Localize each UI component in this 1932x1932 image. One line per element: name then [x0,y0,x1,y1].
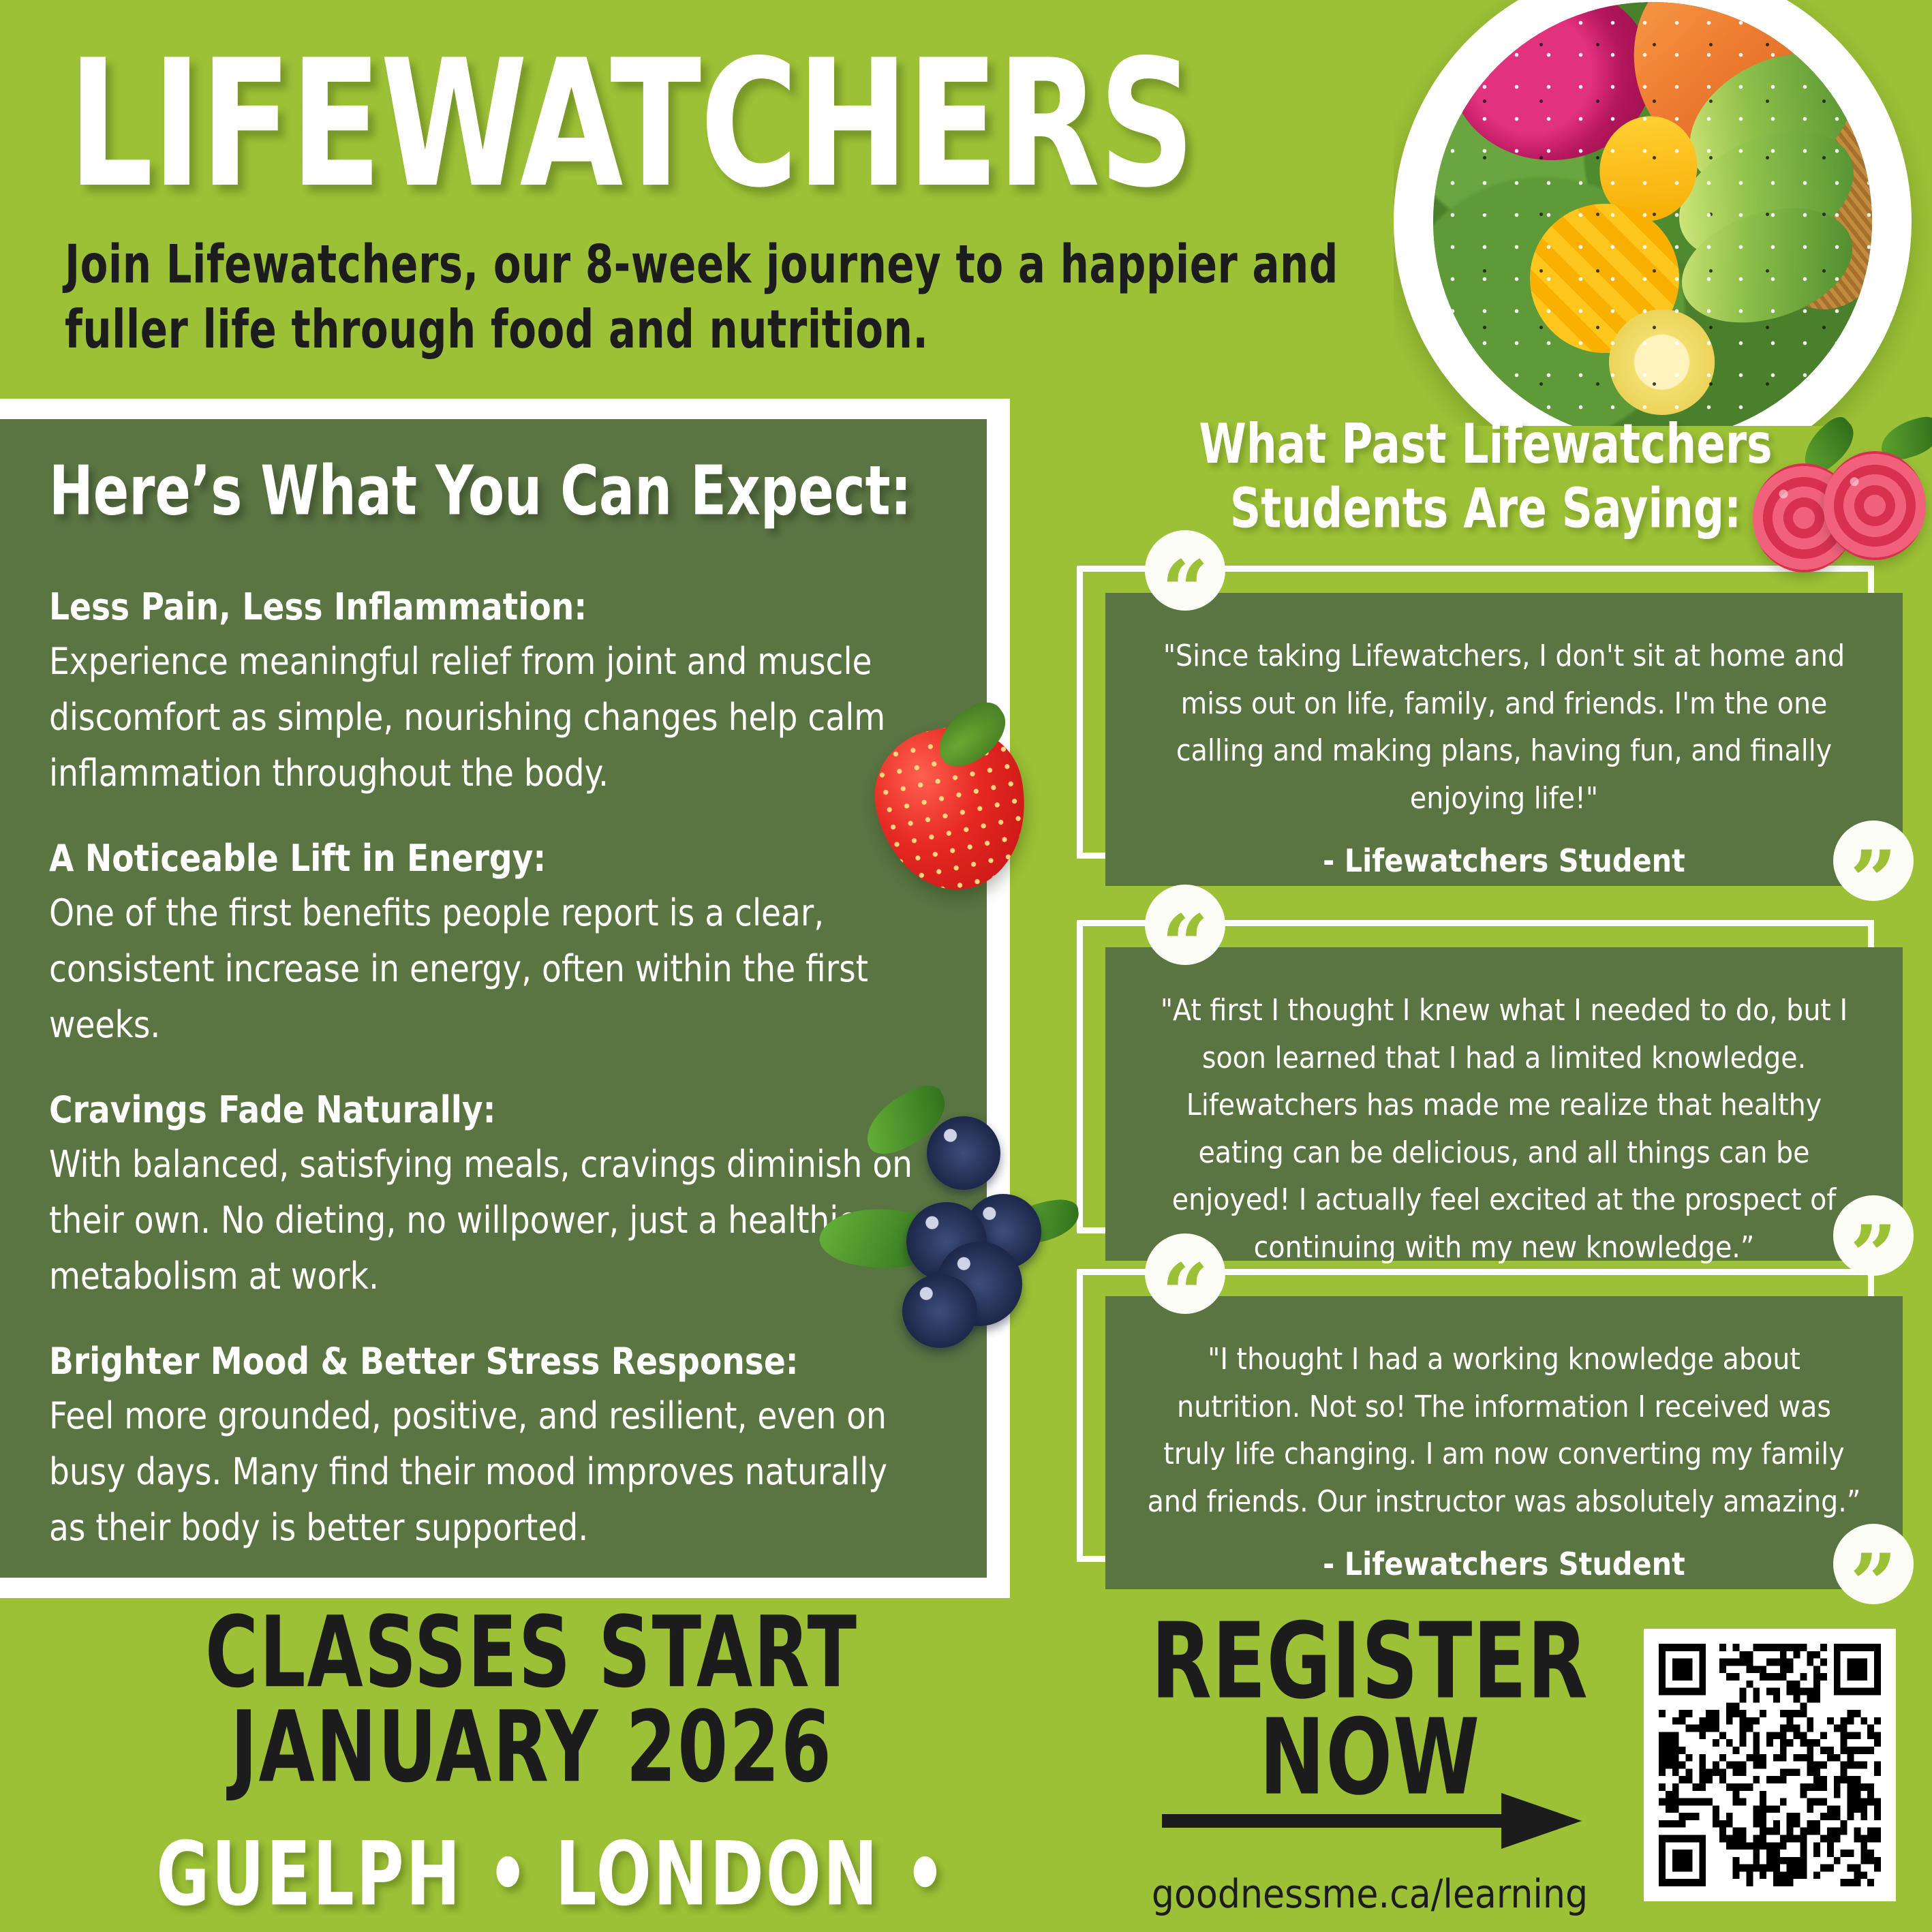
classes-start-line2: JANUARY 2026 [0,1689,1063,1805]
benefit-title: A Noticeable Lift in Energy: [49,837,919,881]
testimonial-card: "Since taking Lifewatchers, I don't sit … [1077,566,1874,859]
quote-close-icon: ” [1833,821,1914,901]
benefit-body: One of the first benefits people report … [49,885,919,1053]
poster-header: LIFEWATCHERS Join Lifewatchers, our 8-we… [0,0,1932,399]
benefit-body: Experience meaningful relief from joint … [49,634,919,801]
benefits-panel-frame: Here’s What You Can Expect: Less Pain, L… [0,399,1010,1598]
benefit-body: With balanced, satisfying meals, craving… [49,1137,919,1304]
testimonial-quote: "Since taking Lifewatchers, I don't sit … [1144,632,1865,822]
testimonial-card: "I thought I had a working knowledge abo… [1077,1269,1874,1562]
quote-open-icon: “ [1145,530,1225,611]
poster-canvas: LIFEWATCHERS Join Lifewatchers, our 8-we… [0,0,1932,1932]
testimonial-attribution: - Lifewatchers Student [1144,842,1865,879]
quote-open-icon: “ [1145,1233,1225,1314]
testimonial-body: "Since taking Lifewatchers, I don't sit … [1105,593,1903,886]
benefit-title: Less Pain, Less Inflammation: [49,585,919,630]
cities-line: GUELPH • LONDON • WATERLOO [0,1823,1104,1932]
testimonial-body: "At first I thought I knew what I needed… [1105,947,1903,1261]
classes-start-block: CLASSES START JANUARY 2026 [0,1595,1063,1784]
testimonial-card: "At first I thought I knew what I needed… [1077,920,1874,1233]
hero-bowl-photo [1394,0,1932,426]
poster-subtitle: Join Lifewatchers, our 8-week journey to… [65,232,1469,363]
quote-open-icon: “ [1145,885,1225,965]
benefit-item: Less Pain, Less Inflammation: Experience… [49,585,946,801]
benefit-item: A Noticeable Lift in Energy: One of the … [49,837,946,1053]
quote-close-icon: ” [1833,1524,1914,1604]
testimonial-quote: "I thought I had a working knowledge abo… [1144,1336,1865,1525]
testimonials-heading: What Past Lifewatchers Students Are Sayi… [1159,412,1813,540]
testimonial-quote: "At first I thought I knew what I needed… [1144,987,1865,1271]
poster-title: LIFEWATCHERS [68,37,1194,213]
testimonial-attribution: - Lifewatchers Student [1144,1546,1865,1582]
register-url[interactable]: goodnessme.ca/learning [1118,1871,1622,1917]
benefit-item: Brighter Mood & Better Stress Response: … [49,1340,946,1556]
quote-close-icon: ” [1833,1195,1914,1276]
benefits-panel: Here’s What You Can Expect: Less Pain, L… [0,419,987,1578]
testimonial-body: "I thought I had a working knowledge abo… [1105,1296,1903,1589]
benefit-body: Feel more grounded, positive, and resili… [49,1388,919,1556]
benefits-heading: Here’s What You Can Expect: [49,452,946,531]
register-now-block[interactable]: REGISTER NOW [1118,1605,1622,1797]
benefit-title: Brighter Mood & Better Stress Response: [49,1340,919,1384]
benefit-title: Cravings Fade Naturally: [49,1088,919,1133]
qr-code[interactable] [1644,1629,1896,1901]
benefit-item: Cravings Fade Naturally: With balanced, … [49,1088,946,1304]
arrow-right-icon [1162,1803,1584,1839]
